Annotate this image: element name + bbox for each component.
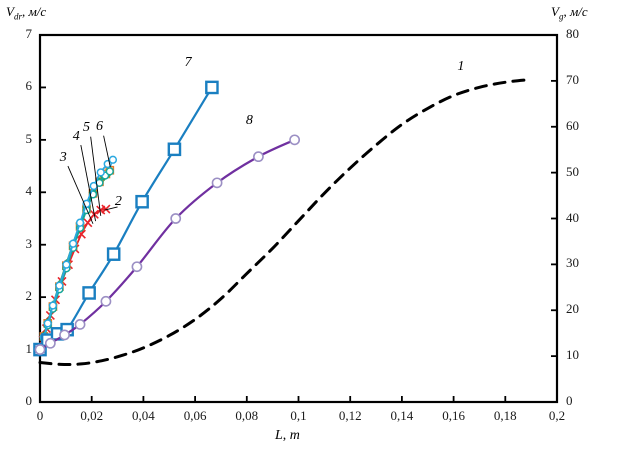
data-marker bbox=[46, 339, 55, 348]
y-axis-right-tick-label: 80 bbox=[566, 26, 596, 42]
y-axis-right-tick-label: 0 bbox=[566, 393, 596, 409]
curve-label-4: 4 bbox=[73, 129, 80, 145]
data-marker bbox=[206, 82, 217, 93]
y-axis-right-tick-label: 70 bbox=[566, 72, 596, 88]
x-axis-tick-label: 0,14 bbox=[379, 408, 425, 424]
plot-area bbox=[0, 0, 617, 455]
data-marker bbox=[171, 214, 180, 223]
series-line-1 bbox=[40, 80, 531, 365]
x-axis-tick-label: 0,2 bbox=[534, 408, 580, 424]
y-axis-left-tick-label: 7 bbox=[6, 26, 32, 42]
y-axis-right-tick-label: 40 bbox=[566, 210, 596, 226]
data-marker bbox=[56, 282, 63, 289]
x-axis-tick-label: 0,1 bbox=[276, 408, 322, 424]
y-axis-right-tick-label: 20 bbox=[566, 301, 596, 317]
data-marker bbox=[70, 240, 77, 247]
series-7 bbox=[34, 82, 217, 355]
y-axis-left-tick-label: 0 bbox=[6, 393, 32, 409]
x-axis-tick-label: 0 bbox=[17, 408, 63, 424]
curve-label-1: 1 bbox=[457, 59, 464, 75]
data-marker bbox=[169, 144, 180, 155]
data-marker bbox=[137, 196, 148, 207]
y-axis-left-tick-label: 1 bbox=[6, 341, 32, 357]
curve-label-8: 8 bbox=[246, 113, 253, 129]
x-axis-tick-label: 0,18 bbox=[482, 408, 528, 424]
y-axis-right-tick-label: 10 bbox=[566, 347, 596, 363]
data-marker bbox=[44, 320, 51, 327]
data-marker bbox=[75, 320, 84, 329]
data-marker bbox=[60, 330, 69, 339]
data-marker bbox=[108, 249, 119, 260]
series-1 bbox=[40, 80, 531, 365]
y-axis-left-tick-label: 5 bbox=[6, 131, 32, 147]
plot-frame bbox=[40, 35, 557, 402]
x-axis-tick-label: 0,06 bbox=[172, 408, 218, 424]
x-axis-tick-label: 0,04 bbox=[120, 408, 166, 424]
y-axis-right-tick-label: 30 bbox=[566, 255, 596, 271]
label-leader-lines bbox=[68, 136, 118, 224]
chart-figure: Vdr, м/с Vg, м/с L, m 012345670102030405… bbox=[0, 0, 617, 455]
x-axis-tick-label: 0,02 bbox=[69, 408, 115, 424]
data-marker bbox=[106, 168, 113, 175]
data-marker bbox=[212, 178, 221, 187]
data-marker bbox=[109, 156, 116, 163]
x-axis-tick-label: 0,16 bbox=[431, 408, 477, 424]
series-line-7 bbox=[40, 87, 212, 349]
y-axis-left-tick-label: 2 bbox=[6, 288, 32, 304]
data-marker bbox=[90, 183, 97, 190]
data-marker bbox=[77, 219, 84, 226]
y-axis-right-tick-label: 50 bbox=[566, 164, 596, 180]
curve-label-3: 3 bbox=[60, 150, 67, 166]
x-axis-tick-label: 0,12 bbox=[327, 408, 373, 424]
x-axis-tick-label: 0,08 bbox=[224, 408, 270, 424]
data-marker bbox=[254, 152, 263, 161]
data-marker bbox=[50, 302, 57, 309]
data-marker bbox=[132, 262, 141, 271]
data-marker bbox=[35, 345, 44, 354]
y-axis-left-tick-label: 4 bbox=[6, 183, 32, 199]
y-axis-left-tick-label: 3 bbox=[6, 236, 32, 252]
curve-label-7: 7 bbox=[185, 55, 192, 71]
curve-label-6: 6 bbox=[96, 119, 103, 135]
data-marker bbox=[63, 261, 70, 268]
data-marker bbox=[84, 287, 95, 298]
data-marker bbox=[290, 135, 299, 144]
data-marker bbox=[97, 169, 104, 176]
curve-label-2: 2 bbox=[115, 194, 122, 210]
curve-label-5: 5 bbox=[83, 120, 90, 136]
y-axis-left-tick-label: 6 bbox=[6, 78, 32, 94]
data-marker bbox=[101, 297, 110, 306]
y-axis-right-tick-label: 60 bbox=[566, 118, 596, 134]
